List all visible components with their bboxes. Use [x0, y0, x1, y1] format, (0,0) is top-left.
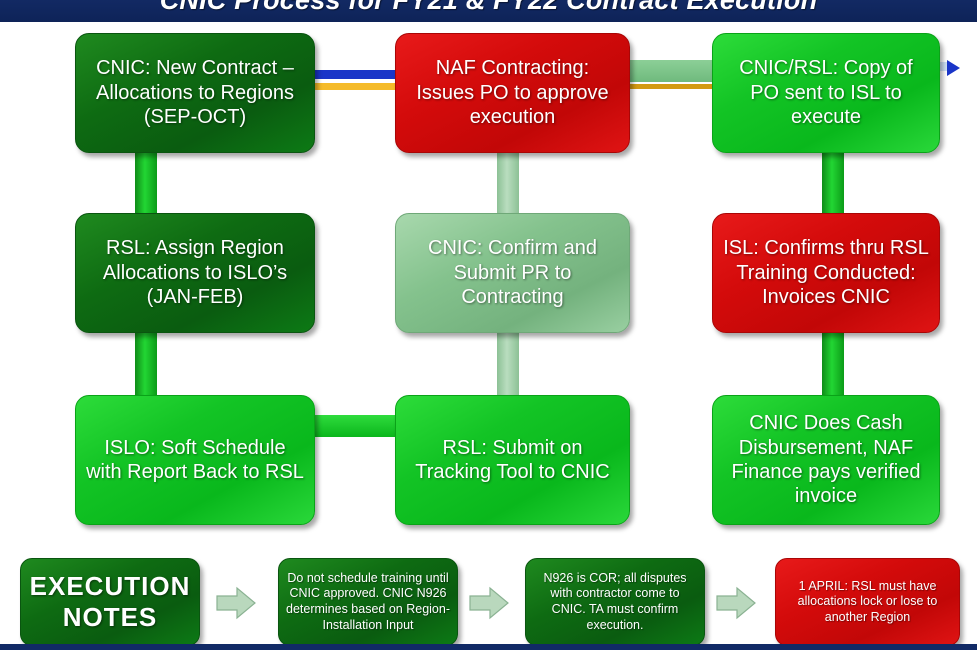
- chevron-right-icon: [468, 585, 510, 621]
- process-box-naf-contracting[interactable]: NAF Contracting: Issues PO to approve ex…: [395, 33, 630, 153]
- process-box-label: CNIC: Confirm and Submit PR to Contracti…: [406, 236, 619, 309]
- connector-mid-1-2: [497, 150, 519, 222]
- process-box-rsl-assign-region[interactable]: RSL: Assign Region Allocations to ISLO’s…: [75, 213, 315, 333]
- process-box-islo-soft-schedule[interactable]: ISLO: Soft Schedule with Report Back to …: [75, 395, 315, 525]
- process-box-rsl-tracking-tool[interactable]: RSL: Submit on Tracking Tool to CNIC: [395, 395, 630, 525]
- chevron-right-icon: [715, 585, 757, 621]
- slide-canvas: CNIC Process for FY21 & FY22 Contract Ex…: [0, 0, 977, 650]
- process-box-cnic-rsl-copy-po[interactable]: CNIC/RSL: Copy of PO sent to ISL to exec…: [712, 33, 940, 153]
- connector-row1-orange-2: [625, 84, 720, 89]
- process-box-label: CNIC Does Cash Disbursement, NAF Finance…: [723, 411, 929, 509]
- process-box-isl-confirms-invoices[interactable]: ISL: Confirms thru RSL Training Conducte…: [712, 213, 940, 333]
- process-box-cnic-new-contract[interactable]: CNIC: New Contract – Allocations to Regi…: [75, 33, 315, 153]
- process-box-label: NAF Contracting: Issues PO to approve ex…: [406, 56, 619, 129]
- process-box-cnic-confirm-pr[interactable]: CNIC: Confirm and Submit PR to Contracti…: [395, 213, 630, 333]
- connector-row3-left-mid: [310, 415, 405, 437]
- process-box-label: RSL: Assign Region Allocations to ISLO’s…: [86, 236, 304, 309]
- execution-notes-heading: EXECUTION NOTES: [21, 571, 199, 633]
- connector-row1-blue: [310, 70, 405, 79]
- process-box-label: CNIC/RSL: Copy of PO sent to ISL to exec…: [723, 56, 929, 129]
- process-box-cnic-cash-disbursement[interactable]: CNIC Does Cash Disbursement, NAF Finance…: [712, 395, 940, 525]
- execution-note-text: 1 APRIL: RSL must have allocations lock …: [783, 579, 952, 626]
- process-box-label: ISLO: Soft Schedule with Report Back to …: [86, 436, 304, 485]
- arrow-right-icon: [947, 60, 960, 76]
- connector-row1-band: [625, 60, 720, 82]
- process-box-label: CNIC: New Contract – Allocations to Regi…: [86, 56, 304, 129]
- bottom-rule: [0, 644, 977, 650]
- process-box-label: ISL: Confirms thru RSL Training Conducte…: [723, 236, 929, 309]
- execution-note-text: N926 is COR; all disputes with contracto…: [533, 571, 697, 634]
- execution-note-do-not-schedule[interactable]: Do not schedule training until CNIC appr…: [278, 558, 458, 646]
- execution-note-n926-cor[interactable]: N926 is COR; all disputes with contracto…: [525, 558, 705, 646]
- execution-note-text: Do not schedule training until CNIC appr…: [286, 571, 450, 634]
- chevron-right-icon: [215, 585, 257, 621]
- connector-left-1-2: [135, 150, 157, 222]
- process-box-label: RSL: Submit on Tracking Tool to CNIC: [406, 436, 619, 485]
- connector-row1-orange: [310, 83, 405, 90]
- connector-right-1-2: [822, 150, 844, 222]
- execution-note-1-april[interactable]: 1 APRIL: RSL must have allocations lock …: [775, 558, 960, 646]
- slide-title-banner: CNIC Process for FY21 & FY22 Contract Ex…: [0, 0, 977, 22]
- page-title: CNIC Process for FY21 & FY22 Contract Ex…: [160, 0, 818, 16]
- execution-notes-heading-box[interactable]: EXECUTION NOTES: [20, 558, 200, 646]
